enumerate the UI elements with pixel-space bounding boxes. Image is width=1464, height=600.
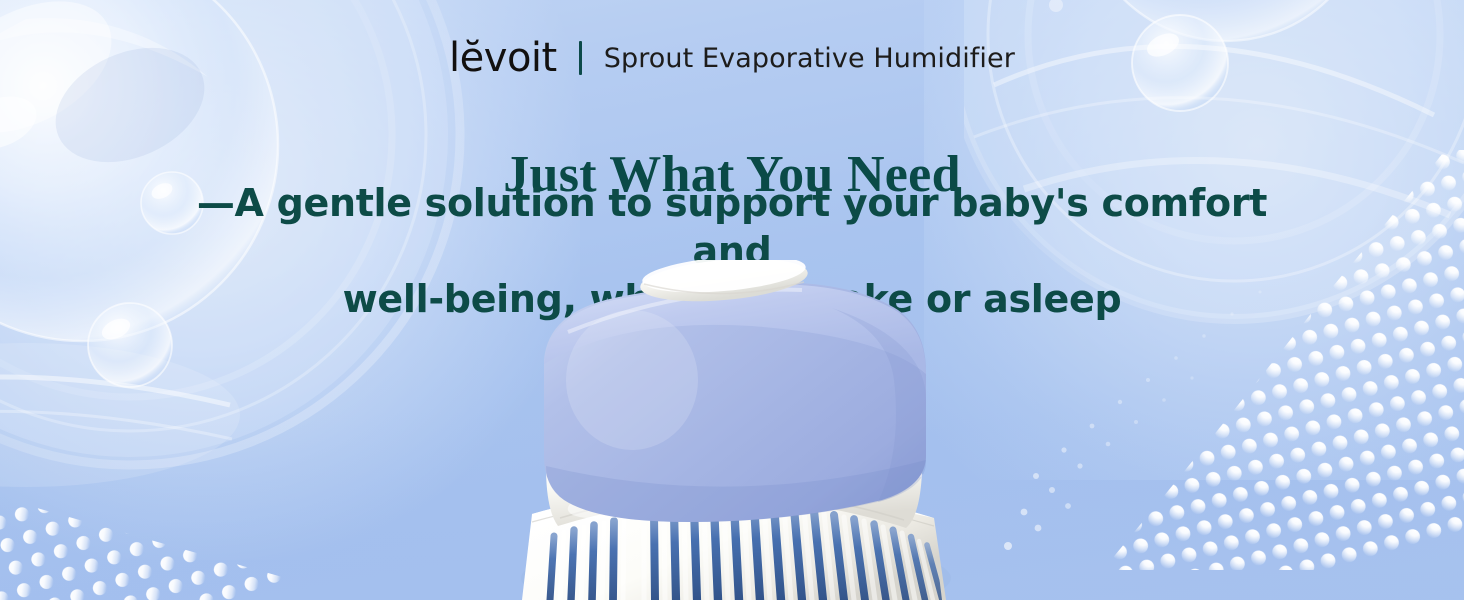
product-name-label: Sprout Evaporative Humidifier [604,45,1015,72]
header-divider [579,41,582,75]
humidifier-body [544,282,926,522]
promotional-banner: lĕvoit Sprout Evaporative Humidifier Jus… [0,0,1464,600]
halftone-dot-grid-bottom-left [0,400,390,600]
brand-header: lĕvoit Sprout Evaporative Humidifier [0,38,1464,78]
product-image-humidifier [502,260,962,600]
levoit-logo: lĕvoit [449,38,557,78]
